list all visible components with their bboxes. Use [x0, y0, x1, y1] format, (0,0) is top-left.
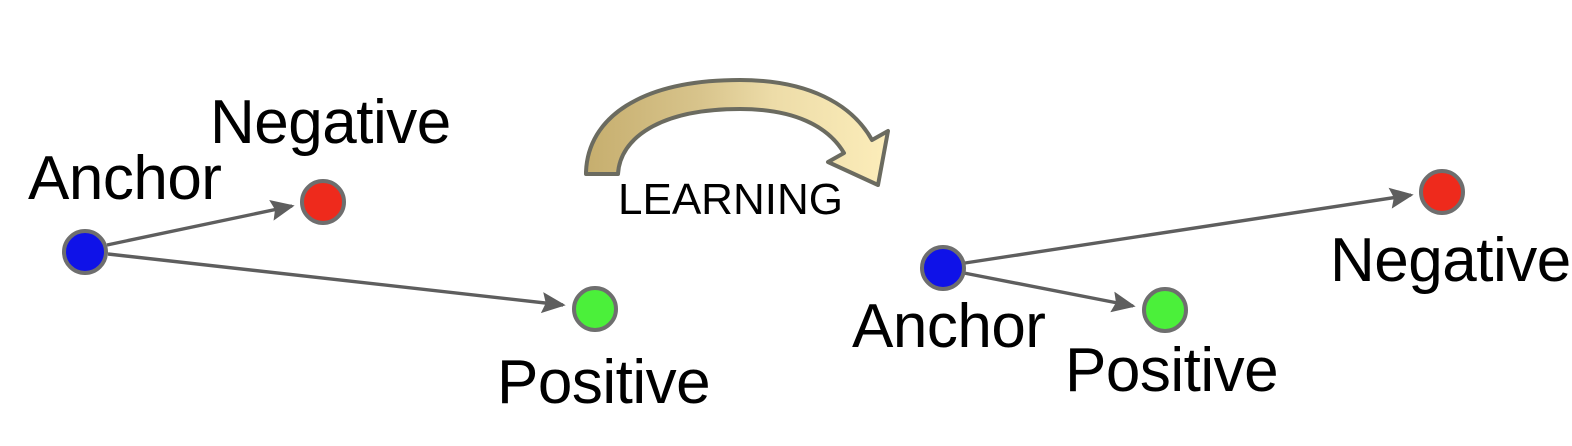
label-learning: LEARNING: [618, 178, 843, 222]
label-positive-left: Positive: [497, 352, 710, 414]
node-positive-right: [1144, 289, 1186, 331]
node-anchor-right: [922, 247, 964, 289]
label-negative-right: Negative: [1330, 230, 1571, 292]
diagram-canvas: Anchor Negative Positive LEARNING Anchor…: [0, 0, 1572, 446]
node-anchor-left: [64, 231, 106, 273]
node-positive-left: [574, 288, 616, 330]
label-negative-left: Negative: [210, 92, 451, 154]
node-negative-right: [1421, 171, 1463, 213]
learning-arrow-icon: [586, 80, 888, 185]
label-anchor-left: Anchor: [28, 148, 221, 210]
label-anchor-right: Anchor: [852, 296, 1045, 358]
label-positive-right: Positive: [1065, 340, 1278, 402]
edge-anchor-to-positive-left: [108, 254, 563, 305]
node-negative-left: [302, 181, 344, 223]
